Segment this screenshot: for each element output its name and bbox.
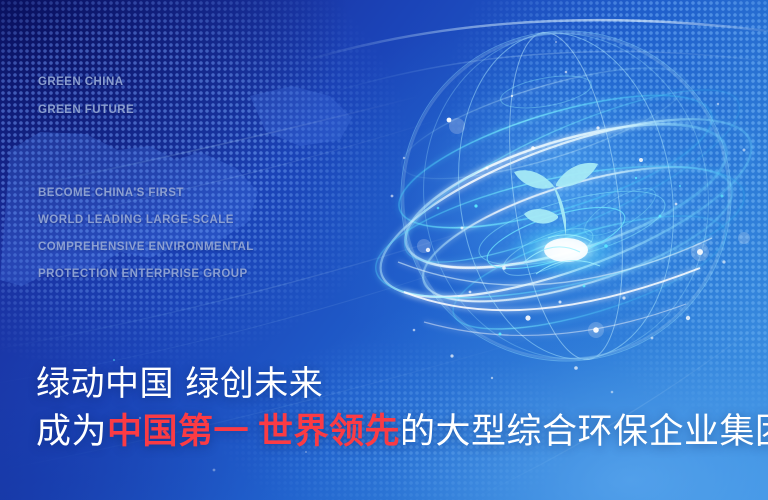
- english-statement: BECOME CHINA'S FIRST WORLD LEADING LARGE…: [38, 180, 254, 288]
- headline-prefix: 成为: [36, 412, 107, 452]
- statement-line-2: WORLD LEADING LARGE-SCALE: [38, 207, 254, 234]
- headline-highlight-china-first: 中国第一: [107, 412, 249, 452]
- statement-line-1: BECOME CHINA'S FIRST: [38, 180, 254, 207]
- tagline-line-2: GREEN FUTURE: [38, 96, 134, 124]
- headline: 绿动中国 绿创未来 成为中国第一世界领先的大型综合环保企业集团: [36, 360, 768, 456]
- headline-highlight-world-leading: 世界领先: [258, 412, 400, 452]
- statement-line-3: COMPREHENSIVE ENVIRONMENTAL: [38, 234, 254, 261]
- statement-line-4: PROTECTION ENTERPRISE GROUP: [38, 261, 254, 288]
- headline-suffix: 的大型综合环保企业集团: [400, 412, 768, 452]
- hero-banner: GREEN CHINA GREEN FUTURE BECOME CHINA'S …: [0, 0, 768, 500]
- english-tagline: GREEN CHINA GREEN FUTURE: [38, 68, 134, 124]
- headline-line-2: 成为中国第一世界领先的大型综合环保企业集团: [36, 408, 768, 456]
- tagline-line-1: GREEN CHINA: [38, 68, 134, 96]
- headline-line-1: 绿动中国 绿创未来: [36, 360, 768, 408]
